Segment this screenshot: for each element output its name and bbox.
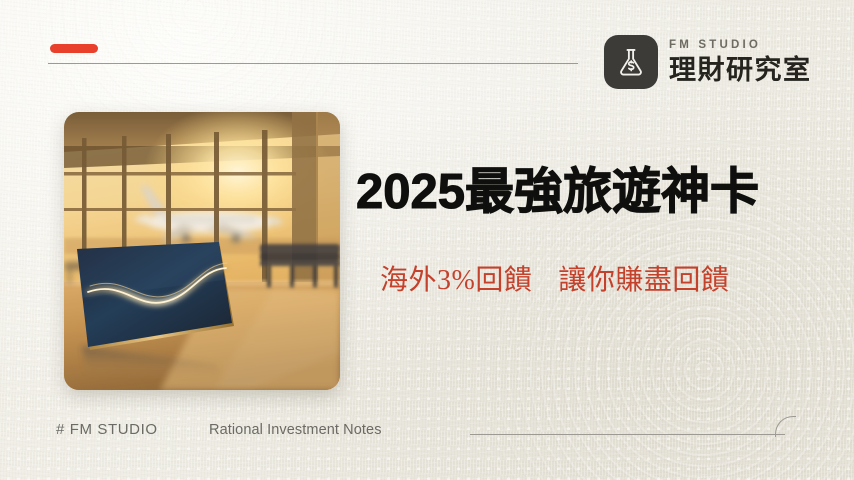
top-divider-line: [48, 63, 578, 64]
brand-text-block: FM STUDIO 理財研究室: [669, 40, 812, 84]
subtitle-left: 海外3%回饋: [380, 265, 532, 296]
page-title: 2025最強旅遊神卡: [356, 166, 759, 219]
subtitle-right: 讓你賺盡回饋: [558, 265, 729, 296]
flask-dollar-icon: [604, 35, 658, 89]
brand-kicker: FM STUDIO: [669, 40, 812, 52]
page-subtitle: 海外3%回饋讓你賺盡回饋: [380, 258, 729, 298]
brand-lockup: FM STUDIO 理財研究室: [604, 35, 812, 89]
brand-name: 理財研究室: [669, 57, 812, 84]
poster-canvas: FM STUDIO 理財研究室: [0, 0, 854, 480]
corner-arc-flourish: [775, 416, 796, 437]
footer-tag: # FM STUDIO: [56, 421, 158, 438]
accent-pill-bar: [50, 44, 98, 53]
footer-note: Rational Investment Notes: [209, 422, 382, 438]
bottom-divider-line: [470, 434, 785, 435]
hero-image: [64, 112, 340, 390]
